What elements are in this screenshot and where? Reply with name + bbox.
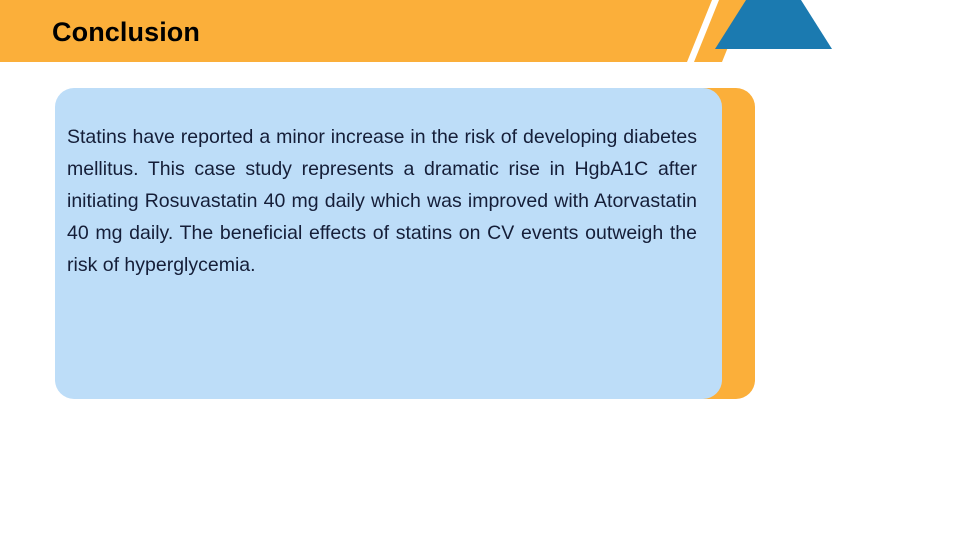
content-card: Statins have reported a minor increase i… xyxy=(55,88,755,399)
blue-trapezoid-accent xyxy=(715,0,832,49)
orange-diagonal-slash xyxy=(694,0,747,62)
conclusion-body-text: Statins have reported a minor increase i… xyxy=(67,121,697,281)
page-title: Conclusion xyxy=(52,12,612,52)
conclusion-text-panel: Statins have reported a minor increase i… xyxy=(55,88,722,399)
slide-canvas: Conclusion Statins have reported a minor… xyxy=(0,0,960,540)
